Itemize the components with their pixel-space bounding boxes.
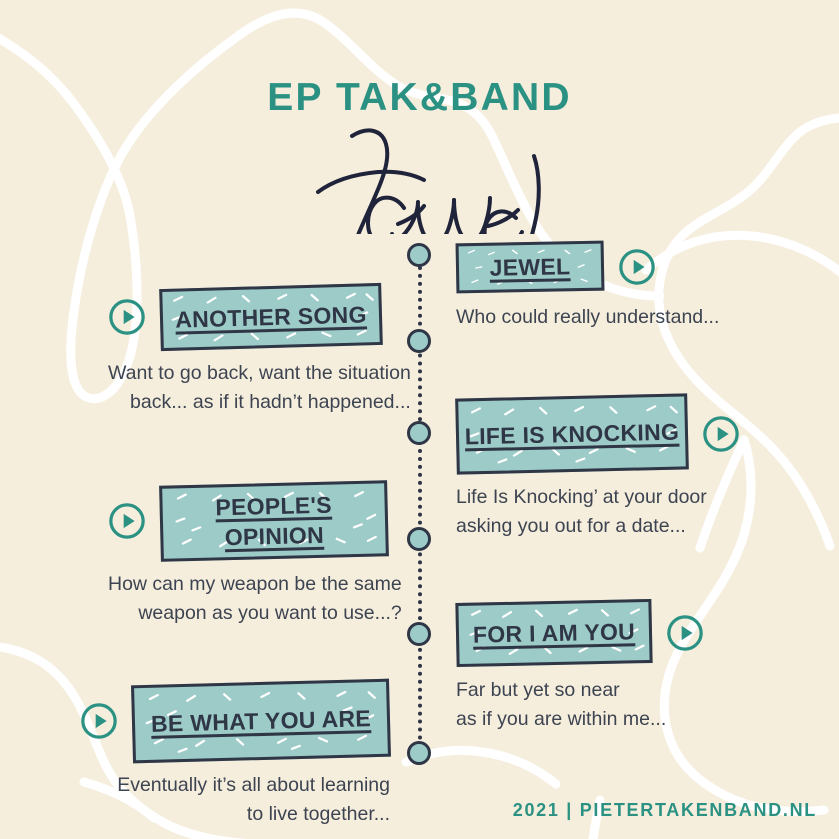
track-item-for-i-am-you: FOR I AM YOU Far but yet so near as if y… bbox=[456, 601, 704, 734]
track-title-line: BE WHAT YOU ARE bbox=[151, 703, 372, 739]
footer-credit[interactable]: 2021 | PIETERTAKENBAND.NL bbox=[513, 800, 817, 821]
play-circle-icon[interactable] bbox=[618, 248, 656, 286]
timeline-dot bbox=[407, 527, 431, 551]
track-item-another-song: ANOTHER SONG Want to go back, want the s… bbox=[108, 286, 411, 417]
track-title: JEWEL bbox=[479, 251, 580, 283]
track-title-line: ANOTHER SONG bbox=[175, 299, 367, 335]
track-title: BE WHAT YOU ARE bbox=[141, 703, 382, 740]
page-title: EP TAK&BAND bbox=[0, 78, 839, 117]
timeline-dot bbox=[407, 243, 431, 267]
track-item-be-what-you-are: BE WHAT YOU ARE Eventually it’s all abou… bbox=[80, 682, 390, 829]
track-title: PEOPLE'S OPINION bbox=[205, 489, 343, 553]
track-description: Far but yet so near as if you are within… bbox=[456, 676, 704, 734]
play-circle-icon[interactable] bbox=[702, 415, 740, 453]
track-header: ANOTHER SONG bbox=[108, 286, 411, 348]
timeline-dot bbox=[407, 622, 431, 646]
track-title: ANOTHER SONG bbox=[165, 299, 377, 335]
track-title-box[interactable]: LIFE IS KNOCKING bbox=[455, 393, 689, 474]
track-item-life-is-knocking: LIFE IS KNOCKING Life Is Knocking’ at yo… bbox=[456, 396, 740, 541]
track-title-line: PEOPLE'S bbox=[215, 489, 332, 522]
track-title-line: LIFE IS KNOCKING bbox=[464, 416, 679, 451]
track-title-box[interactable]: JEWEL bbox=[456, 241, 605, 294]
poster-header: EP TAK&BAND Jewel bbox=[0, 78, 839, 117]
timeline-dot bbox=[407, 741, 431, 765]
track-title-box[interactable]: PEOPLE'S OPINION bbox=[159, 480, 389, 562]
track-description: Want to go back, want the situation back… bbox=[108, 359, 411, 417]
track-title-box[interactable]: FOR I AM YOU bbox=[455, 599, 652, 667]
track-description: Life Is Knocking’ at your door asking yo… bbox=[456, 483, 740, 541]
track-title-box[interactable]: BE WHAT YOU ARE bbox=[131, 679, 391, 764]
play-circle-icon[interactable] bbox=[108, 298, 146, 336]
play-circle-icon[interactable] bbox=[666, 614, 704, 652]
track-title-line: OPINION bbox=[216, 520, 333, 553]
script-title-jewel: Jewel bbox=[0, 114, 839, 234]
track-header: BE WHAT YOU ARE bbox=[80, 682, 390, 760]
play-circle-icon[interactable] bbox=[108, 502, 146, 540]
play-circle-icon[interactable] bbox=[80, 702, 118, 740]
track-header: JEWEL bbox=[456, 242, 719, 292]
track-title-line: JEWEL bbox=[489, 251, 570, 283]
track-item-jewel: JEWEL Who could really understand... bbox=[456, 242, 719, 332]
track-title: FOR I AM YOU bbox=[463, 616, 646, 650]
track-description: Who could really understand... bbox=[456, 303, 719, 332]
poster-canvas: EP TAK&BAND Jewel bbox=[0, 0, 839, 839]
track-item-peoples-opinion: PEOPLE'S OPINION How can my weapon be th… bbox=[108, 483, 402, 628]
track-header: PEOPLE'S OPINION bbox=[108, 483, 402, 559]
timeline-dot bbox=[407, 421, 431, 445]
track-title: LIFE IS KNOCKING bbox=[455, 416, 689, 452]
track-title-box[interactable]: ANOTHER SONG bbox=[159, 283, 383, 351]
track-description: Eventually it’s all about learning to li… bbox=[80, 771, 390, 829]
track-header: FOR I AM YOU bbox=[456, 601, 704, 665]
track-header: LIFE IS KNOCKING bbox=[456, 396, 740, 472]
track-description: How can my weapon be the same weapon as … bbox=[108, 570, 402, 628]
track-title-line: FOR I AM YOU bbox=[473, 616, 636, 650]
